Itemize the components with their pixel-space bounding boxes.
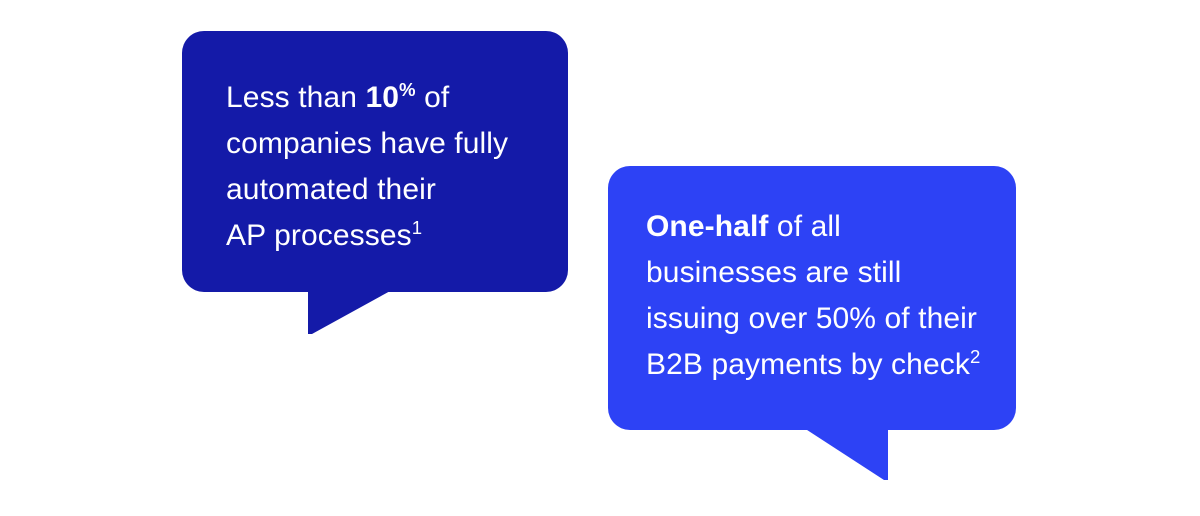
callout-bubble-b2b-check-payments: One-half of all businesses are still iss… [608,166,1016,430]
callout-lead-text-1: Less than [226,81,365,114]
callout-tail-b2b-check-payments [804,428,888,480]
callout-emphasis-value-2: One-half [646,210,768,243]
footnote-marker-2: 2 [970,346,980,367]
callout-bubble-ap-automation: Less than 10% of companies have fully au… [182,31,568,292]
footnote-marker-1: 1 [412,217,422,238]
callout-text-b2b-check-payments: One-half of all businesses are still iss… [646,204,992,388]
infographic-canvas: Less than 10% of companies have fully au… [0,0,1200,516]
callout-text-ap-automation: Less than 10% of companies have fully au… [226,75,538,259]
callout-tail-ap-automation [308,290,392,334]
percent-superscript-icon: % [399,79,416,100]
callout-emphasis-value-1: 10 [365,81,399,114]
